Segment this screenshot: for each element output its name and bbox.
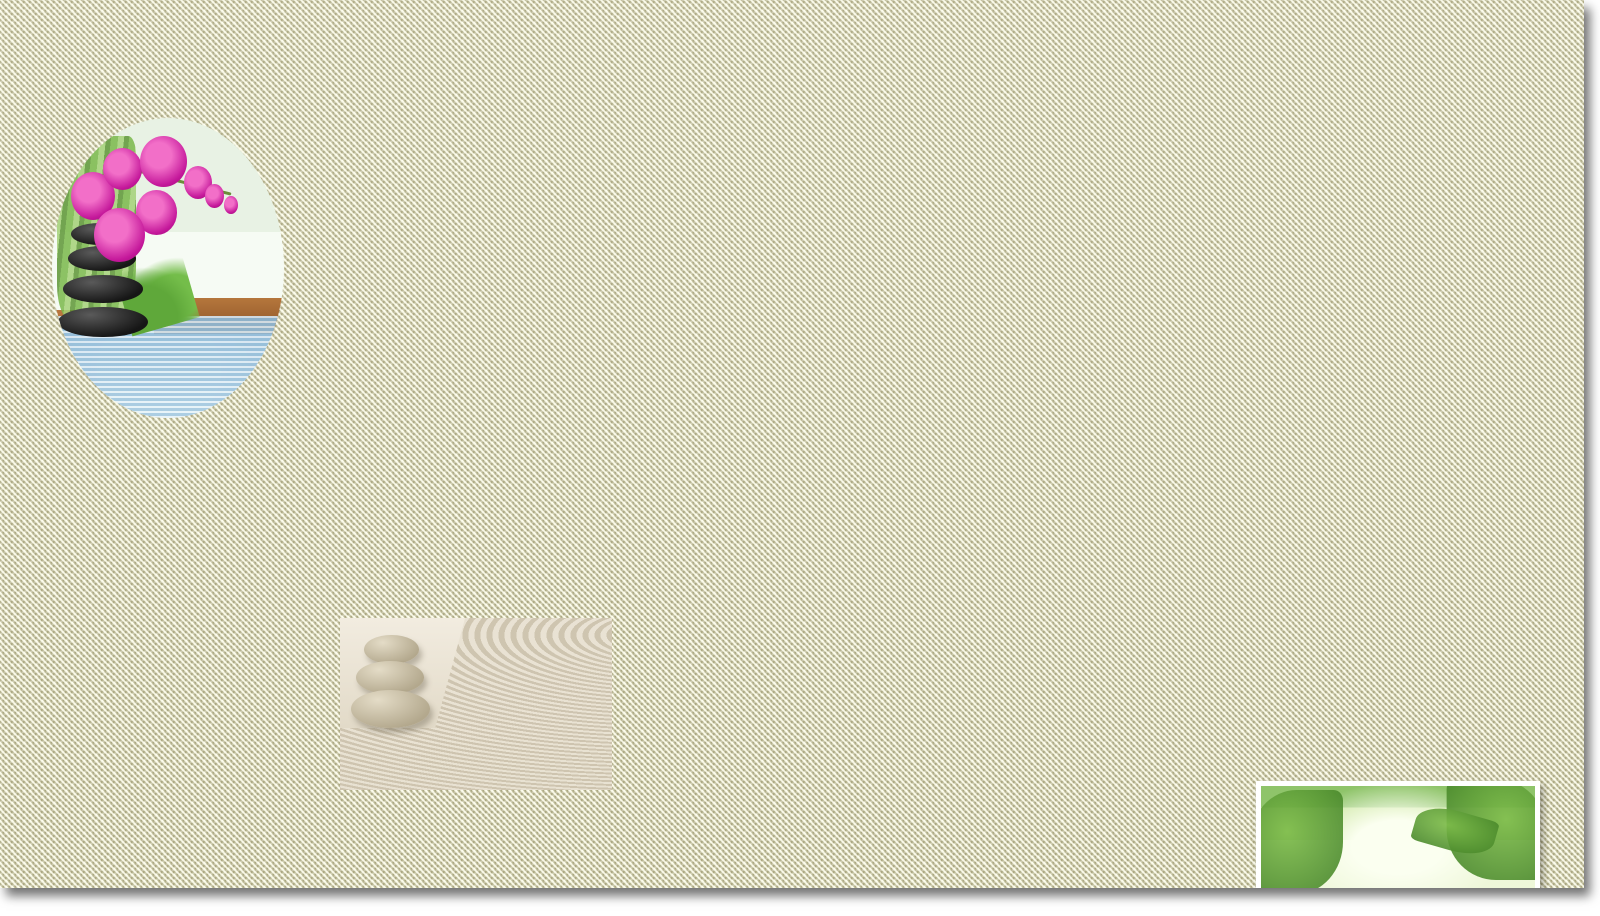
notebook-teacup-image xyxy=(1256,781,1540,888)
foliage-shape xyxy=(1261,790,1343,888)
orchid-zen-stones-image xyxy=(52,118,284,418)
zen-sand-garden-image xyxy=(340,618,612,790)
pebble-shape xyxy=(356,661,424,694)
photo-inner xyxy=(1261,786,1535,888)
presentation-slide: Notre originalité et notre différence, c… xyxy=(0,0,1584,888)
pebble-shape xyxy=(351,690,430,728)
